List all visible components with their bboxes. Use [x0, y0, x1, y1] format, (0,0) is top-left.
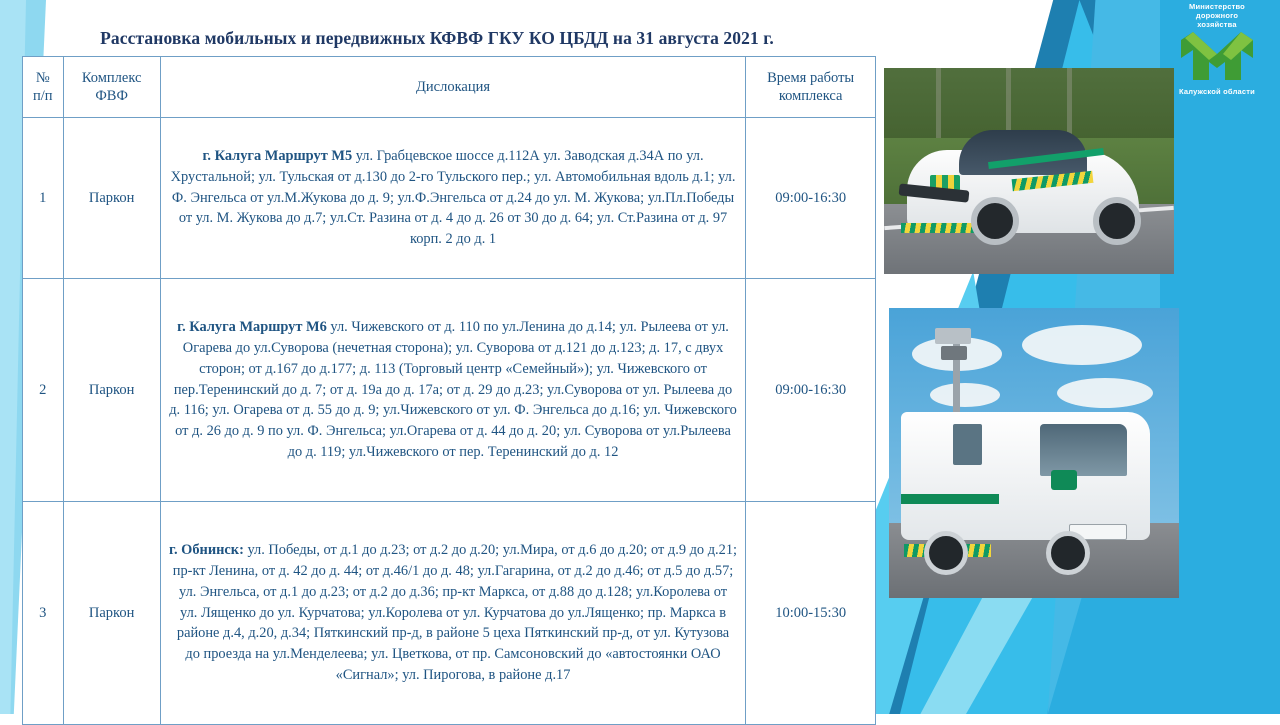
photo1-car-wheel — [1093, 197, 1141, 245]
photo2-van-emblem — [1051, 470, 1077, 490]
row-complex-type: Паркон — [63, 502, 160, 725]
photo-speed-control-van — [889, 308, 1179, 598]
photo2-van-windshield — [1040, 424, 1127, 476]
table-row: 3 Паркон г. Обнинск: ул. Победы, от д.1 … — [23, 502, 876, 725]
row-working-time: 10:00-15:30 — [746, 502, 876, 725]
row-number: 2 — [23, 279, 64, 502]
row-location: г. Калуга Маршрут М5 ул. Грабцевское шос… — [160, 118, 746, 279]
ministry-logo-text: Министерство дорожного хозяйства — [1189, 3, 1245, 30]
table-header-row: № п/п Комплекс ФВФ Дислокация Время рабо… — [23, 57, 876, 118]
photo1-car-wheel — [971, 197, 1019, 245]
row-complex-type: Паркон — [63, 279, 160, 502]
photo2-van-side-window — [953, 424, 982, 465]
photo2-van-green-band — [901, 494, 1000, 504]
photo2-camera-icon — [941, 346, 967, 360]
chevron-m-icon — [1181, 32, 1253, 85]
column-header-number-line2: п/п — [28, 87, 58, 105]
row-location-detail: ул. Чижевского от д. 110 по ул.Ленина до… — [169, 319, 737, 459]
photo1-tree-trunk — [936, 68, 941, 146]
row-location-heading: г. Калуга Маршрут М6 — [177, 319, 327, 335]
table-row: 2 Паркон г. Калуга Маршрут М6 ул. Чижевс… — [23, 279, 876, 502]
row-location: г. Калуга Маршрут М6 ул. Чижевского от д… — [160, 279, 746, 502]
row-working-time: 09:00-16:30 — [746, 118, 876, 279]
logo-region-label: Калужской области — [1179, 87, 1255, 96]
column-header-time-line1: Время работы — [751, 69, 870, 87]
row-working-time: 09:00-16:30 — [746, 279, 876, 502]
ministry-logo: Министерство дорожного хозяйства Калужск… — [1158, 0, 1276, 104]
column-header-time-line2: комплекса — [751, 87, 870, 105]
column-header-location: Дислокация — [160, 57, 746, 118]
column-header-complex-line1: Комплекс — [69, 69, 155, 87]
row-complex-type: Паркон — [63, 118, 160, 279]
column-header-complex: Комплекс ФВФ — [63, 57, 160, 118]
deployment-table: № п/п Комплекс ФВФ Дислокация Время рабо… — [22, 56, 876, 725]
row-location-detail: ул. Победы, от д.1 до д.23; от д.2 до д.… — [173, 542, 737, 682]
page-title: Расстановка мобильных и передвижных КФВФ… — [22, 28, 852, 49]
logo-line-3: хозяйства — [1189, 21, 1245, 30]
photo-patrol-car — [884, 68, 1174, 274]
photo2-camera-housing — [935, 328, 971, 344]
photo2-van-wheel — [924, 531, 968, 575]
photo2-van-wheel — [1046, 531, 1090, 575]
column-header-time: Время работы комплекса — [746, 57, 876, 118]
row-number: 3 — [23, 502, 64, 725]
row-location: г. Обнинск: ул. Победы, от д.1 до д.23; … — [160, 502, 746, 725]
column-header-number-line1: № — [28, 69, 58, 87]
column-header-complex-line2: ФВФ — [69, 87, 155, 105]
table-row: 1 Паркон г. Калуга Маршрут М5 ул. Грабце… — [23, 118, 876, 279]
photo2-cloud — [1057, 378, 1153, 408]
row-location-heading: г. Обнинск: — [169, 542, 244, 558]
row-location-heading: г. Калуга Маршрут М5 — [202, 148, 352, 164]
row-number: 1 — [23, 118, 64, 279]
column-header-number: № п/п — [23, 57, 64, 118]
